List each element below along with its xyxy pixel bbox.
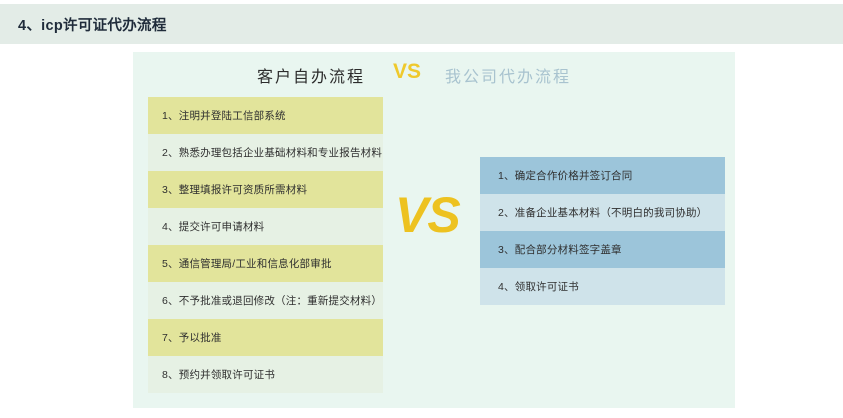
right-flow-step: 3、配合部分材料签字盖章 [480,231,725,268]
comparison-diagram-panel: 客户自办流程 VS 我公司代办流程 1、注明并登陆工信部系统 2、熟悉办理包括企… [133,52,735,408]
left-flow-step: 5、通信管理局/工业和信息化部审批 [148,245,383,282]
right-flow-step: 2、准备企业基本材料（不明白的我司协助） [480,194,725,231]
left-flow-step: 7、予以批准 [148,319,383,356]
left-flow-step: 1、注明并登陆工信部系统 [148,97,383,134]
versus-badge: VS [395,190,460,240]
left-flow-step: 4、提交许可申请材料 [148,208,383,245]
right-flow-column: 1、确定合作价格并签订合同 2、准备企业基本材料（不明白的我司协助） 3、配合部… [480,157,725,305]
left-flow-column: 1、注明并登陆工信部系统 2、熟悉办理包括企业基础材料和专业报告材料 3、整理填… [148,97,383,393]
right-flow-step: 4、领取许可证书 [480,268,725,305]
left-flow-step: 6、不予批准或退回修改（注：重新提交材料） [148,282,383,319]
left-column-caption: 客户自办流程 [257,63,365,87]
caption-vs-label: VS [393,60,421,84]
right-flow-step: 1、确定合作价格并签订合同 [480,157,725,194]
left-flow-step: 2、熟悉办理包括企业基础材料和专业报告材料 [148,134,383,171]
right-column-caption: 我公司代办流程 [445,63,571,87]
page-title-band: 4、icp许可证代办流程 [0,4,843,44]
page-title: 4、icp许可证代办流程 [18,14,167,35]
left-flow-step: 8、预约并领取许可证书 [148,356,383,393]
diagram-caption-row: 客户自办流程 VS 我公司代办流程 [133,60,735,94]
left-flow-step: 3、整理填报许可资质所需材料 [148,171,383,208]
